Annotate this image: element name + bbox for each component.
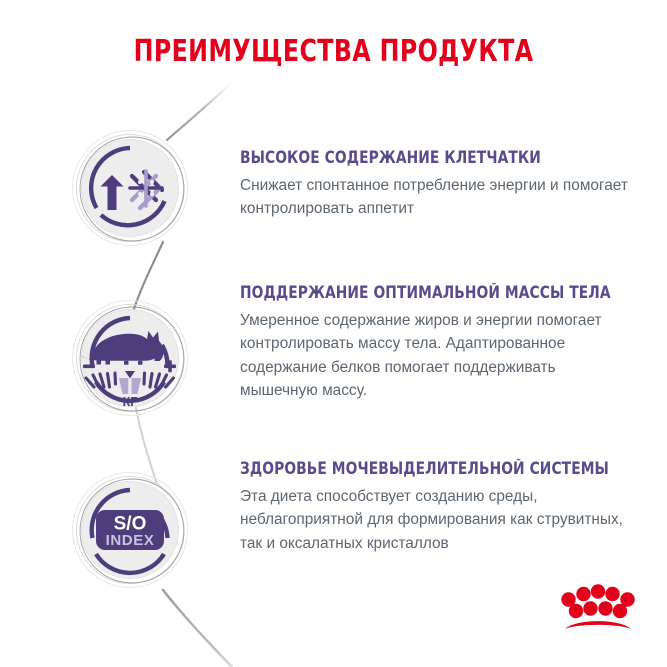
page-title: ПРЕИМУЩЕСТВА ПРОДУКТА bbox=[40, 34, 627, 69]
benefit-body-2: Умеренное содержание жиров и энергии пом… bbox=[240, 309, 630, 403]
benefit-block-3: ЗДОРОВЬЕ МОЧЕВЫДЕЛИТЕЛЬНОЙ СИСТЕМЫ Эта д… bbox=[240, 459, 640, 555]
kg-label: КГ bbox=[123, 395, 138, 409]
benefit-body-1: Снижает спонтанное потребление энергии и… bbox=[240, 174, 630, 221]
royal-canin-crown-logo bbox=[556, 582, 640, 638]
benefit-icon-3: S/O INDEX bbox=[70, 470, 190, 590]
benefit-heading-2: ПОДДЕРЖАНИЕ ОПТИМАЛЬНОЙ МАССЫ ТЕЛА bbox=[240, 283, 612, 302]
benefit-block-1: ВЫСОКОЕ СОДЕРЖАНИЕ КЛЕТЧАТКИ Снижает спо… bbox=[240, 148, 640, 221]
index-label: INDEX bbox=[106, 532, 155, 549]
benefit-icon-2: КГ bbox=[70, 298, 190, 418]
fiber-arrow-icon bbox=[70, 128, 190, 248]
benefit-heading-1: ВЫСОКОЕ СОДЕРЖАНИЕ КЛЕТЧАТКИ bbox=[240, 148, 612, 167]
benefit-block-2: ПОДДЕРЖАНИЕ ОПТИМАЛЬНОЙ МАССЫ ТЕЛА Умере… bbox=[240, 283, 640, 403]
minus-sign bbox=[83, 365, 95, 369]
so-index-icon: S/O INDEX bbox=[70, 470, 190, 590]
product-benefits-page: ПРЕИМУЩЕСТВА ПРОДУКТА bbox=[0, 0, 667, 667]
benefit-icon-1 bbox=[70, 128, 190, 248]
benefit-body-3: Эта диета способствует созданию среды, н… bbox=[240, 485, 630, 555]
benefit-heading-3: ЗДОРОВЬЕ МОЧЕВЫДЕЛИТЕЛЬНОЙ СИСТЕМЫ bbox=[240, 459, 612, 478]
cat-weight-scale-icon: КГ bbox=[70, 298, 190, 418]
